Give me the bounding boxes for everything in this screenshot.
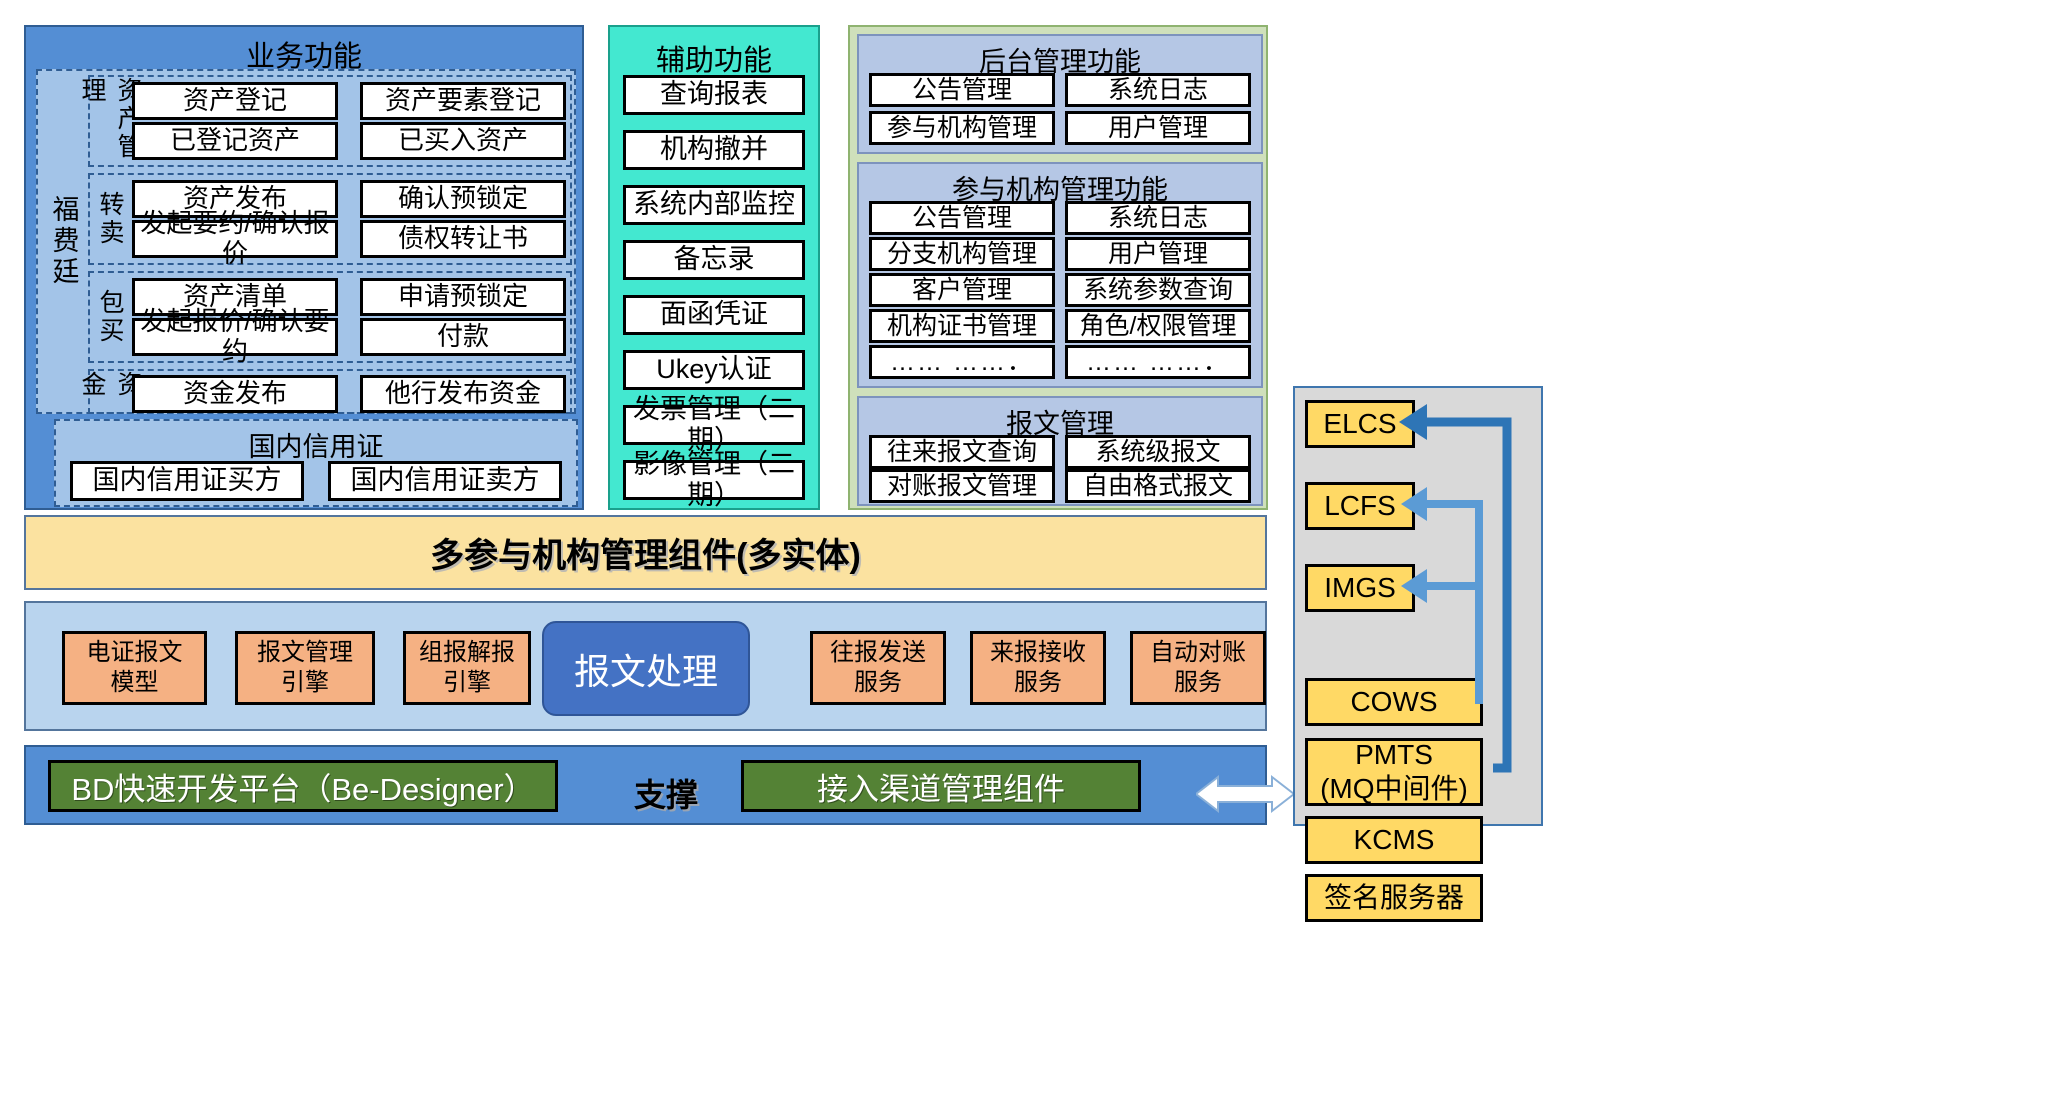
support-label: 支撑 bbox=[606, 770, 726, 816]
aux-item[interactable]: 影像管理（二期） bbox=[623, 460, 805, 500]
system-box-imgs[interactable]: IMGS bbox=[1305, 564, 1415, 612]
admin-item[interactable]: 往来报文查询 bbox=[869, 435, 1055, 469]
architecture-diagram: 业务功能 福费廷 资产管理 资产登记 资产要素登记 已登记资产 已买入资产 bbox=[0, 0, 2072, 1112]
subgroup-label: 资产管理 bbox=[92, 77, 128, 165]
domestic-lc-group: 国内信用证 国内信用证买方 国内信用证卖方 bbox=[54, 419, 578, 507]
bd-platform-box[interactable]: BD快速开发平台（Be-Designer） bbox=[48, 760, 558, 812]
admin-item[interactable]: 角色/权限管理 bbox=[1065, 309, 1251, 343]
aux-item[interactable]: 面函凭证 bbox=[623, 295, 805, 335]
function-box[interactable]: 资金发布 bbox=[132, 375, 338, 413]
subgroup-resale: 转卖 资产发布 确认预锁定 发起要约/确认报价 债权转让书 bbox=[88, 173, 572, 265]
admin-item[interactable]: 系统级报文 bbox=[1065, 435, 1251, 469]
subgroup-label: 转卖 bbox=[92, 175, 128, 263]
admin-item[interactable]: 系统日志 bbox=[1065, 73, 1251, 107]
function-box[interactable]: 他行发布资金 bbox=[360, 375, 566, 413]
backend-admin-group: 后台管理功能 公告管理 系统日志 参与机构管理 用户管理 bbox=[857, 34, 1263, 154]
double-arrow-icon bbox=[1196, 774, 1294, 814]
admin-item[interactable]: 分支机构管理 bbox=[869, 237, 1055, 271]
admin-item[interactable]: 对账报文管理 bbox=[869, 469, 1055, 503]
support-platform-band: BD快速开发平台（Be-Designer） 支撑 接入渠道管理组件 bbox=[24, 745, 1267, 825]
function-box[interactable]: 付款 bbox=[360, 318, 566, 356]
subgroup-label: 包买 bbox=[92, 273, 128, 361]
aux-item[interactable]: 机构撤并 bbox=[623, 130, 805, 170]
admin-item[interactable]: 用户管理 bbox=[1065, 237, 1251, 271]
admin-item[interactable]: 系统参数查询 bbox=[1065, 273, 1251, 307]
external-systems-sidebar: ELCS LCFS IMGS COWS PMTS(MQ中间件) KCMS 签名服… bbox=[1293, 386, 1543, 826]
admin-item[interactable]: 客户管理 bbox=[869, 273, 1055, 307]
message-processing-box[interactable]: 报文处理 bbox=[542, 621, 750, 716]
system-box-kcms[interactable]: KCMS bbox=[1305, 816, 1483, 864]
system-box-lcfs[interactable]: LCFS bbox=[1305, 482, 1415, 530]
multi-entity-component-band: 多参与机构管理组件(多实体) bbox=[24, 515, 1267, 590]
subgroup-asset-management: 资产管理 资产登记 资产要素登记 已登记资产 已买入资产 bbox=[88, 75, 572, 167]
subgroup-forfaiting-purchase: 包买 资产清单 申请预锁定 发起报价/确认要约 付款 bbox=[88, 271, 572, 363]
channel-component-box[interactable]: 接入渠道管理组件 bbox=[741, 760, 1141, 812]
admin-item-ellipsis[interactable]: …… ……． bbox=[869, 345, 1055, 379]
message-management-group: 报文管理 往来报文查询 系统级报文 对账报文管理 自由格式报文 bbox=[857, 396, 1263, 506]
service-box[interactable]: 往报发送服务 bbox=[810, 631, 946, 705]
function-box[interactable]: 资产要素登记 bbox=[360, 82, 566, 120]
domestic-lc-title: 国内信用证 bbox=[56, 425, 576, 464]
function-box[interactable]: 国内信用证卖方 bbox=[328, 461, 562, 501]
aux-item[interactable]: 系统内部监控 bbox=[623, 185, 805, 225]
subgroup-label: 资金 bbox=[92, 371, 128, 412]
service-box[interactable]: 报文管理引擎 bbox=[235, 631, 375, 705]
function-box[interactable]: 国内信用证买方 bbox=[70, 461, 304, 501]
function-box[interactable]: 已登记资产 bbox=[132, 122, 338, 160]
system-box-cows[interactable]: COWS bbox=[1305, 678, 1483, 726]
forfaiting-group: 福费廷 资产管理 资产登记 资产要素登记 已登记资产 已买入资产 bbox=[36, 69, 576, 414]
function-box[interactable]: 已买入资产 bbox=[360, 122, 566, 160]
admin-item-ellipsis[interactable]: …… ……． bbox=[1065, 345, 1251, 379]
function-box[interactable]: 发起要约/确认报价 bbox=[132, 220, 338, 258]
auxiliary-panel-title: 辅助功能 bbox=[610, 37, 818, 79]
admin-item[interactable]: 用户管理 bbox=[1065, 111, 1251, 145]
admin-item[interactable]: 公告管理 bbox=[869, 73, 1055, 107]
service-box[interactable]: 自动对账服务 bbox=[1130, 631, 1266, 705]
function-box[interactable]: 发起报价/确认要约 bbox=[132, 318, 338, 356]
function-box[interactable]: 资产登记 bbox=[132, 82, 338, 120]
system-box-signature-server[interactable]: 签名服务器 bbox=[1305, 874, 1483, 922]
participant-admin-group: 参与机构管理功能 公告管理 系统日志 分支机构管理 用户管理 客户管理 系统参数… bbox=[857, 162, 1263, 388]
function-box[interactable]: 债权转让书 bbox=[360, 220, 566, 258]
business-functions-panel: 业务功能 福费廷 资产管理 资产登记 资产要素登记 已登记资产 已买入资产 bbox=[24, 25, 584, 510]
admin-item[interactable]: 自由格式报文 bbox=[1065, 469, 1251, 503]
message-processing-band: 电证报文模型 报文管理引擎 组报解报引擎 报文处理 往报发送服务 来报接收服务 … bbox=[24, 601, 1267, 731]
aux-item[interactable]: 备忘录 bbox=[623, 240, 805, 280]
aux-item[interactable]: 查询报表 bbox=[623, 75, 805, 115]
aux-item[interactable]: 发票管理（二期） bbox=[623, 405, 805, 445]
service-box[interactable]: 组报解报引擎 bbox=[403, 631, 531, 705]
auxiliary-functions-panel: 辅助功能 查询报表 机构撤并 系统内部监控 备忘录 面函凭证 Ukey认证 发票… bbox=[608, 25, 820, 510]
admin-item[interactable]: 公告管理 bbox=[869, 201, 1055, 235]
function-box[interactable]: 申请预锁定 bbox=[360, 278, 566, 316]
multi-entity-component-label: 多参与机构管理组件(多实体) bbox=[430, 528, 861, 577]
subgroup-funds: 资金 资金发布 他行发布资金 bbox=[88, 369, 572, 414]
admin-item[interactable]: 系统日志 bbox=[1065, 201, 1251, 235]
admin-functions-panel: 后台管理功能 公告管理 系统日志 参与机构管理 用户管理 参与机构管理功能 公告… bbox=[848, 25, 1268, 510]
admin-item[interactable]: 机构证书管理 bbox=[869, 309, 1055, 343]
service-box[interactable]: 来报接收服务 bbox=[970, 631, 1106, 705]
function-box[interactable]: 确认预锁定 bbox=[360, 180, 566, 218]
system-box-pmts[interactable]: PMTS(MQ中间件) bbox=[1305, 738, 1483, 806]
service-box[interactable]: 电证报文模型 bbox=[62, 631, 207, 705]
admin-item[interactable]: 参与机构管理 bbox=[869, 111, 1055, 145]
aux-item[interactable]: Ukey认证 bbox=[623, 350, 805, 390]
system-box-elcs[interactable]: ELCS bbox=[1305, 400, 1415, 448]
